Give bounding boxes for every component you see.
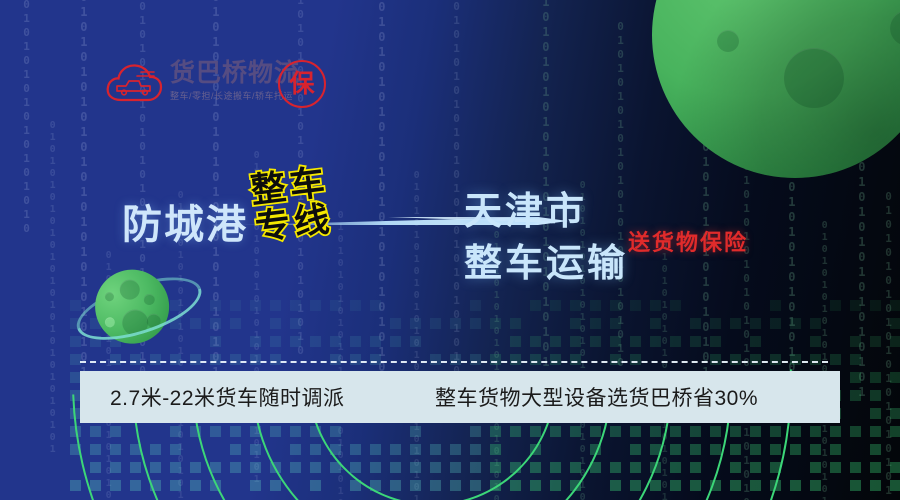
mosaic-cell <box>770 462 781 473</box>
mosaic-cell <box>430 480 441 491</box>
mosaic-cell <box>570 336 581 347</box>
mosaic-cell <box>590 426 601 437</box>
mosaic-cell <box>190 426 201 437</box>
mosaic-cell <box>470 318 481 329</box>
mosaic-cell <box>530 336 541 347</box>
mosaic-cell <box>510 336 521 347</box>
mosaic-cell <box>630 480 641 491</box>
mosaic-cell <box>890 318 900 329</box>
mosaic-cell <box>470 462 481 473</box>
mosaic-cell <box>330 354 341 365</box>
mosaic-cell <box>890 336 900 347</box>
mosaic-cell <box>290 444 301 455</box>
mosaic-cell <box>390 462 401 473</box>
mosaic-cell <box>470 354 481 365</box>
mosaic-cell <box>590 336 601 347</box>
destination-service: 整车运输 <box>464 238 628 290</box>
mosaic-cell <box>530 480 541 491</box>
binary-column: 0101010101010101010101010101 <box>452 0 461 330</box>
mosaic-cell <box>750 462 761 473</box>
mosaic-cell <box>530 426 541 437</box>
mosaic-cell <box>350 444 361 455</box>
mosaic-cell <box>630 336 641 347</box>
binary-column: 0101010101010101010101010101 <box>78 0 88 410</box>
mosaic-cell <box>190 480 201 491</box>
banner-left-text: 2.7米-22米货车随时调派 <box>110 382 345 412</box>
mosaic-cell <box>670 426 681 437</box>
mosaic-cell <box>130 354 141 365</box>
mosaic-cell <box>190 354 201 365</box>
mosaic-cell <box>490 318 501 329</box>
mosaic-cell <box>390 336 401 347</box>
mosaic-cell <box>150 462 161 473</box>
mosaic-cell <box>710 444 721 455</box>
mosaic-cell <box>310 444 321 455</box>
mosaic-cell <box>310 462 321 473</box>
mosaic-cell <box>330 336 341 347</box>
mosaic-cell <box>450 480 461 491</box>
mosaic-cell <box>590 318 601 329</box>
mosaic-cell <box>310 426 321 437</box>
mosaic-cell <box>250 336 261 347</box>
mosaic-cell <box>690 462 701 473</box>
binary-column: 0101010101010101010101010101 <box>210 0 220 340</box>
mosaic-cell <box>370 300 381 311</box>
mosaic-cell <box>870 480 881 491</box>
mosaic-cell <box>390 480 401 491</box>
mosaic-cell <box>550 336 561 347</box>
mosaic-cell <box>610 318 621 329</box>
mosaic-cell <box>710 336 721 347</box>
mosaic-cell <box>470 444 481 455</box>
mosaic-cell <box>690 318 701 329</box>
mosaic-cell <box>770 318 781 329</box>
mosaic-cell <box>510 480 521 491</box>
mosaic-cell <box>710 354 721 365</box>
mosaic-cell <box>410 318 421 329</box>
mosaic-cell <box>110 462 121 473</box>
mosaic-cell <box>270 480 281 491</box>
binary-column: 01010101010101010101010101 <box>336 210 344 470</box>
mosaic-cell <box>210 318 221 329</box>
mosaic-cell <box>790 354 801 365</box>
mosaic-cell <box>70 300 81 311</box>
mosaic-cell <box>210 462 221 473</box>
mosaic-cell <box>850 462 861 473</box>
mosaic-cell <box>790 480 801 491</box>
mosaic-cell <box>450 318 461 329</box>
mosaic-cell <box>450 354 461 365</box>
mosaic-cell <box>170 426 181 437</box>
mosaic-cell <box>870 426 881 437</box>
mosaic-cell <box>110 426 121 437</box>
mosaic-cell <box>730 462 741 473</box>
binary-column: 01010101010101010101010 <box>660 240 668 470</box>
mosaic-cell <box>730 426 741 437</box>
mosaic-cell <box>150 354 161 365</box>
binary-column: 0101010101010101010101010101 <box>376 0 386 390</box>
mosaic-cell <box>110 354 121 365</box>
mosaic-cell <box>610 354 621 365</box>
poster-canvas: 0101010101010101010010101010101010101010… <box>0 0 900 500</box>
banner-dashed-divider <box>80 361 828 363</box>
mosaic-cell <box>170 462 181 473</box>
mosaic-cell <box>430 354 441 365</box>
mosaic-cell <box>890 462 900 473</box>
mosaic-cell <box>270 354 281 365</box>
mosaic-cell <box>410 462 421 473</box>
mosaic-cell <box>550 354 561 365</box>
mosaic-cell <box>170 444 181 455</box>
mosaic-cell <box>110 444 121 455</box>
mosaic-cell <box>430 318 441 329</box>
mosaic-cell <box>670 444 681 455</box>
route-badge-line-2: 专线 <box>253 200 335 246</box>
mosaic-cell <box>250 444 261 455</box>
mosaic-cell <box>150 480 161 491</box>
mosaic-cell <box>750 336 761 347</box>
mosaic-cell <box>550 300 561 311</box>
mosaic-cell <box>610 462 621 473</box>
brand-logo: 货巴桥物流 整车/零担/长途搬车/轿车托运 <box>104 58 300 104</box>
mosaic-cell <box>650 336 661 347</box>
mosaic-cell <box>270 336 281 347</box>
mosaic-cell <box>370 336 381 347</box>
mosaic-cell <box>290 426 301 437</box>
mosaic-cell <box>750 354 761 365</box>
mosaic-cell <box>170 354 181 365</box>
mosaic-cell <box>710 480 721 491</box>
mosaic-cell <box>350 354 361 365</box>
insurance-badge: 保 <box>278 60 326 108</box>
mosaic-cell <box>490 354 501 365</box>
mosaic-cell <box>890 372 900 383</box>
mosaic-cell <box>870 372 881 383</box>
mosaic-cell <box>330 462 341 473</box>
mosaic-cell <box>90 426 101 437</box>
mosaic-cell <box>870 444 881 455</box>
mosaic-cell <box>770 300 781 311</box>
binary-column: 0101010101010101010101010101 <box>742 160 751 480</box>
mosaic-cell <box>90 462 101 473</box>
mosaic-cell <box>450 444 461 455</box>
mosaic-cell <box>70 336 81 347</box>
mosaic-cell <box>890 300 900 311</box>
mosaic-cell <box>670 462 681 473</box>
mosaic-cell <box>290 336 301 347</box>
mosaic-cell <box>810 354 821 365</box>
mosaic-cell <box>550 426 561 437</box>
mosaic-cell <box>570 480 581 491</box>
mosaic-cell <box>810 444 821 455</box>
mosaic-cell <box>650 480 661 491</box>
mosaic-cell <box>870 300 881 311</box>
banner-right-text: 整车货物大型设备选货巴桥省30% <box>435 382 758 412</box>
mosaic-cell <box>350 300 361 311</box>
mosaic-cell <box>530 354 541 365</box>
mosaic-cell <box>210 336 221 347</box>
mosaic-cell <box>850 372 861 383</box>
mosaic-cell <box>830 444 841 455</box>
mosaic-cell <box>530 300 541 311</box>
mosaic-cell <box>370 462 381 473</box>
mosaic-cell <box>130 444 141 455</box>
mosaic-cell <box>610 300 621 311</box>
mosaic-cell <box>210 354 221 365</box>
mosaic-cell <box>350 480 361 491</box>
mosaic-cell <box>690 336 701 347</box>
mosaic-cell <box>510 426 521 437</box>
mosaic-cell <box>310 480 321 491</box>
mosaic-cell <box>230 462 241 473</box>
mosaic-cell <box>370 480 381 491</box>
binary-column: 0101010101010101010 <box>22 0 31 180</box>
mosaic-cell <box>250 426 261 437</box>
mosaic-cell <box>850 390 861 401</box>
mosaic-cell <box>90 444 101 455</box>
mosaic-cell <box>430 462 441 473</box>
mosaic-cell <box>670 300 681 311</box>
mosaic-cell <box>410 480 421 491</box>
mosaic-cell <box>510 462 521 473</box>
mosaic-cell <box>610 480 621 491</box>
mosaic-cell <box>870 336 881 347</box>
mosaic-cell <box>90 480 101 491</box>
mosaic-cell <box>270 426 281 437</box>
mosaic-cell <box>310 336 321 347</box>
mosaic-cell <box>230 444 241 455</box>
binary-column: 010101010101010101010101010 <box>884 190 893 490</box>
mosaic-cell <box>570 354 581 365</box>
mosaic-cell <box>650 462 661 473</box>
mosaic-cell <box>290 300 301 311</box>
destination-city: 天津市 <box>464 186 628 238</box>
mosaic-cell <box>670 336 681 347</box>
mosaic-cell <box>570 462 581 473</box>
mosaic-cell <box>690 444 701 455</box>
mosaic-cell <box>410 444 421 455</box>
mosaic-cell <box>810 462 821 473</box>
mosaic-cell <box>850 336 861 347</box>
mosaic-cell <box>850 300 861 311</box>
mosaic-cell <box>770 426 781 437</box>
mosaic-cell <box>750 480 761 491</box>
mosaic-cell <box>430 444 441 455</box>
mosaic-cell <box>470 426 481 437</box>
mosaic-cell <box>350 336 361 347</box>
mosaic-cell <box>450 462 461 473</box>
route-type-badge: 整车 专线 <box>249 164 335 247</box>
mosaic-cell <box>890 426 900 437</box>
mosaic-cell <box>750 444 761 455</box>
mosaic-cell <box>650 426 661 437</box>
mosaic-cell <box>730 354 741 365</box>
mosaic-cell <box>110 480 121 491</box>
mosaic-cell <box>850 426 861 437</box>
mosaic-cell <box>70 354 81 365</box>
insurance-note: 送货物保险 <box>628 225 748 257</box>
mosaic-cell <box>390 444 401 455</box>
mosaic-cell <box>670 480 681 491</box>
mosaic-cell <box>270 318 281 329</box>
mosaic-cell <box>790 318 801 329</box>
green-planet-icon <box>652 0 900 178</box>
mosaic-cell <box>330 426 341 437</box>
mosaic-cell <box>570 426 581 437</box>
mosaic-cell <box>250 480 261 491</box>
mosaic-cell <box>250 462 261 473</box>
mosaic-cell <box>250 300 261 311</box>
mosaic-cell <box>250 354 261 365</box>
mosaic-cell <box>850 354 861 365</box>
mosaic-cell <box>550 462 561 473</box>
cloud-truck-icon <box>104 58 164 104</box>
mosaic-cell <box>790 426 801 437</box>
mosaic-cell <box>830 354 841 365</box>
mosaic-cell <box>470 480 481 491</box>
mosaic-cell <box>610 336 621 347</box>
mosaic-cell <box>70 444 81 455</box>
mosaic-cell <box>310 300 321 311</box>
mosaic-cell <box>830 426 841 437</box>
mosaic-cell <box>630 354 641 365</box>
mosaic-cell <box>490 480 501 491</box>
mosaic-cell <box>850 480 861 491</box>
mosaic-cell <box>830 300 841 311</box>
mosaic-cell <box>270 300 281 311</box>
mosaic-cell <box>330 300 341 311</box>
mosaic-cell <box>810 480 821 491</box>
mosaic-cell <box>130 462 141 473</box>
mosaic-cell <box>870 462 881 473</box>
mosaic-cell <box>590 444 601 455</box>
mosaic-cell <box>870 390 881 401</box>
mosaic-cell <box>510 354 521 365</box>
mosaic-cell <box>590 462 601 473</box>
mosaic-cell <box>390 318 401 329</box>
mosaic-cell <box>630 462 641 473</box>
mosaic-cell <box>410 426 421 437</box>
mosaic-cell <box>650 444 661 455</box>
mosaic-cell <box>730 480 741 491</box>
mosaic-cell <box>370 354 381 365</box>
mosaic-cell <box>270 462 281 473</box>
mosaic-cell <box>870 408 881 419</box>
mosaic-cell <box>690 480 701 491</box>
mosaic-cell <box>70 480 81 491</box>
mosaic-cell <box>230 318 241 329</box>
mosaic-cell <box>350 462 361 473</box>
destination-block: 天津市 整车运输 <box>464 186 628 291</box>
mosaic-cell <box>710 318 721 329</box>
mosaic-cell <box>490 426 501 437</box>
mosaic-cell <box>630 426 641 437</box>
mosaic-cell <box>290 462 301 473</box>
mosaic-cell <box>750 426 761 437</box>
mosaic-cell <box>770 480 781 491</box>
mosaic-cell <box>810 336 821 347</box>
mosaic-cell <box>130 480 141 491</box>
mosaic-cell <box>810 426 821 437</box>
binary-column: 0101010101010101010101010101 <box>48 120 56 420</box>
mosaic-cell <box>210 480 221 491</box>
mosaic-cell <box>690 426 701 437</box>
mosaic-cell <box>330 444 341 455</box>
mosaic-cell <box>170 480 181 491</box>
mosaic-cell <box>370 444 381 455</box>
bottom-banner: 2.7米-22米货车随时调派 整车货物大型设备选货巴桥省30% <box>80 371 840 423</box>
mosaic-cell <box>830 462 841 473</box>
mosaic-cell <box>230 426 241 437</box>
mosaic-cell <box>890 480 900 491</box>
mosaic-cell <box>730 444 741 455</box>
mosaic-cell <box>190 318 201 329</box>
mosaic-cell <box>550 480 561 491</box>
mosaic-cell <box>290 318 301 329</box>
mosaic-cell <box>490 462 501 473</box>
mosaic-cell <box>210 426 221 437</box>
mosaic-cell <box>150 444 161 455</box>
mosaic-cell <box>890 408 900 419</box>
mosaic-cell <box>530 462 541 473</box>
mosaic-cell <box>490 444 501 455</box>
mosaic-cell <box>630 444 641 455</box>
mosaic-cell <box>590 300 601 311</box>
mosaic-cell <box>630 300 641 311</box>
mosaic-cell <box>570 300 581 311</box>
mosaic-cell <box>570 318 581 329</box>
mosaic-cell <box>770 354 781 365</box>
mosaic-cell <box>750 318 761 329</box>
mosaic-cell <box>770 444 781 455</box>
mosaic-cell <box>470 300 481 311</box>
mosaic-cell <box>510 318 521 329</box>
mosaic-cell <box>410 336 421 347</box>
mosaic-cell <box>530 444 541 455</box>
mosaic-cell <box>810 318 821 329</box>
binary-column: 010101010101010101010101010 <box>820 220 828 490</box>
mosaic-cell <box>230 354 241 365</box>
mosaic-cell <box>230 300 241 311</box>
mosaic-cell <box>210 300 221 311</box>
mosaic-cell <box>710 426 721 437</box>
mosaic-cell <box>650 318 661 329</box>
mosaic-cell <box>190 462 201 473</box>
mosaic-cell <box>610 426 621 437</box>
mosaic-cell <box>70 426 81 437</box>
mosaic-cell <box>790 444 801 455</box>
mosaic-cell <box>730 318 741 329</box>
mosaic-cell <box>650 300 661 311</box>
origin-city: 防城港 <box>122 192 248 250</box>
